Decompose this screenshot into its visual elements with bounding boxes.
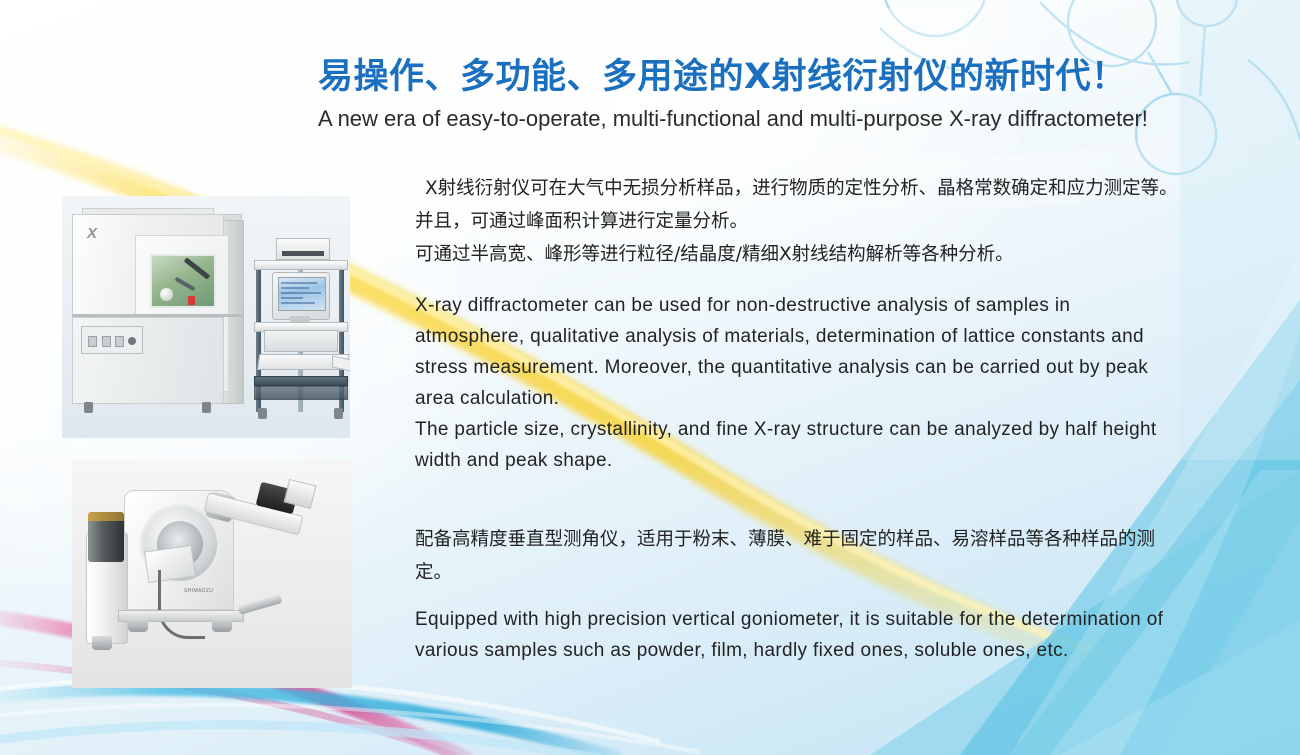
machine-logo: X [87, 225, 135, 243]
page-subtitle: A new era of easy-to-operate, multi-func… [318, 106, 1238, 132]
paragraph-en-1: X-ray diffractometer can be used for non… [415, 290, 1185, 414]
banner-canvas: 易操作、多功能、多用途的X射线衍射仪的新时代！ A new era of eas… [0, 0, 1300, 755]
body-text-column: X射线衍射仪可在大气中无损分析样品，进行物质的定性分析、晶格常数确定和应力测定等… [415, 172, 1185, 666]
photo-diffractometer-cabinet: X [62, 196, 350, 438]
brand-mark: SHIMADZU [184, 588, 213, 594]
page-title: 易操作、多功能、多用途的X射线衍射仪的新时代！ [318, 48, 1218, 99]
paragraph-cn-1: X射线衍射仪可在大气中无损分析样品，进行物质的定性分析、晶格常数确定和应力测定等… [415, 172, 1185, 238]
paragraph-en-3: Equipped with high precision vertical go… [415, 604, 1185, 666]
photo-goniometer: SHIMADZU [72, 460, 352, 688]
paragraph-cn-3: 配备高精度垂直型测角仪，适用于粉末、薄膜、难于固定的样品、易溶样品等各种样品的测… [415, 523, 1185, 589]
paragraph-en-2: The particle size, crystallinity, and fi… [415, 414, 1185, 476]
paragraph-cn-2: 可通过半高宽、峰形等进行粒径/结晶度/精细X射线结构解析等各种分析。 [415, 238, 1185, 271]
blue-swoosh [0, 689, 620, 755]
